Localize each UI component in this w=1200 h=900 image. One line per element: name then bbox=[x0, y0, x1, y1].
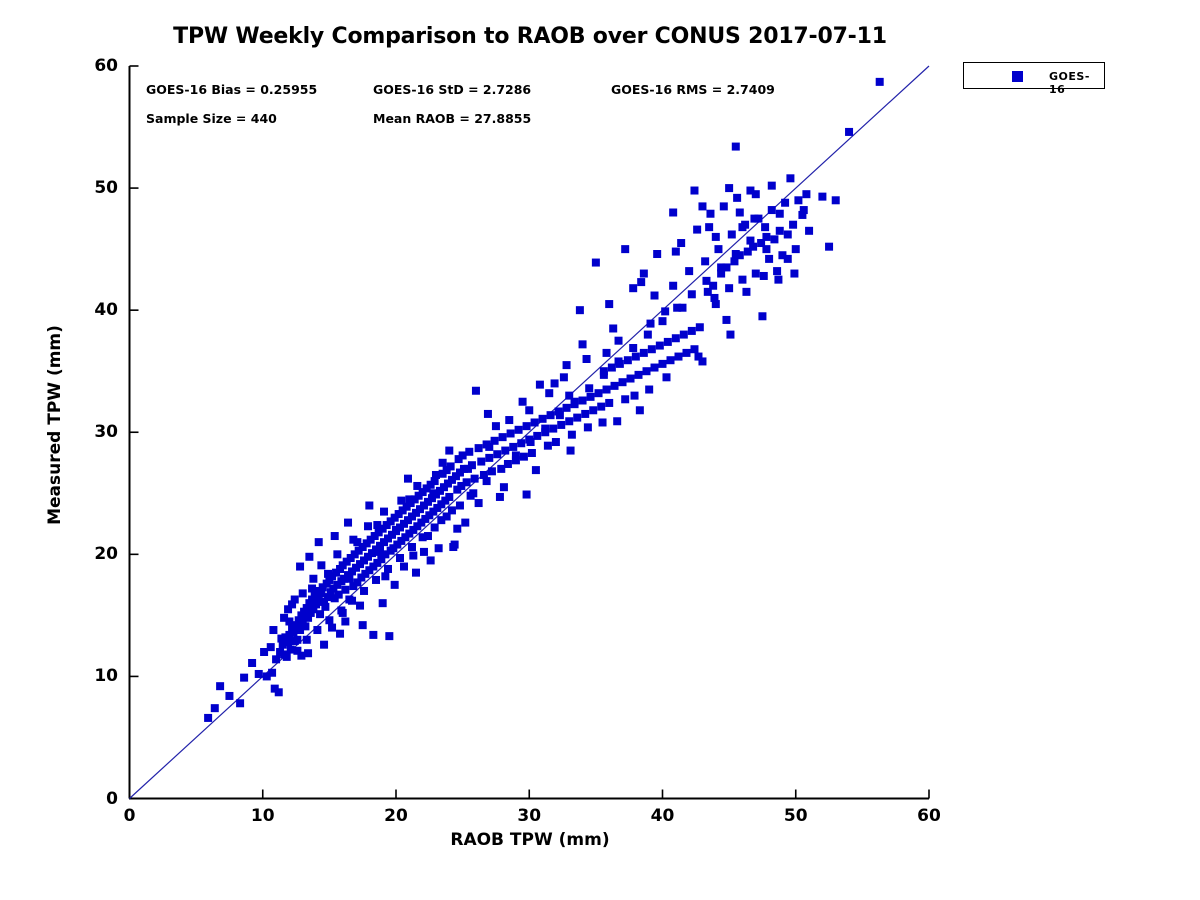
x-tick-label: 60 bbox=[899, 806, 959, 826]
data-point bbox=[304, 649, 312, 657]
data-point bbox=[587, 393, 595, 401]
y-tick-label: 0 bbox=[68, 789, 118, 809]
data-point bbox=[225, 692, 233, 700]
data-point bbox=[832, 196, 840, 204]
data-point bbox=[579, 397, 587, 405]
data-point bbox=[774, 276, 782, 284]
data-point bbox=[712, 233, 720, 241]
data-point bbox=[308, 585, 316, 593]
data-point bbox=[536, 381, 544, 389]
data-point bbox=[484, 410, 492, 418]
data-point bbox=[519, 398, 527, 406]
data-point bbox=[512, 451, 520, 459]
data-point bbox=[765, 255, 773, 263]
data-point bbox=[682, 349, 690, 357]
data-point bbox=[773, 267, 781, 275]
data-point bbox=[336, 630, 344, 638]
data-point bbox=[303, 636, 311, 644]
data-point bbox=[685, 267, 693, 275]
data-point bbox=[706, 210, 714, 218]
data-point bbox=[845, 128, 853, 136]
data-point bbox=[738, 276, 746, 284]
data-point bbox=[643, 367, 651, 375]
data-point bbox=[520, 453, 528, 461]
scatter-plot-canvas bbox=[0, 0, 1200, 900]
data-point bbox=[632, 353, 640, 361]
data-point bbox=[285, 617, 293, 625]
y-tick-label: 40 bbox=[68, 300, 118, 320]
data-point bbox=[584, 423, 592, 431]
data-point bbox=[690, 187, 698, 195]
data-point bbox=[733, 194, 741, 202]
data-point bbox=[316, 610, 324, 618]
data-point bbox=[211, 704, 219, 712]
data-point bbox=[585, 384, 593, 392]
data-point bbox=[453, 525, 461, 533]
data-point bbox=[576, 306, 584, 314]
data-point bbox=[496, 493, 504, 501]
data-point bbox=[750, 215, 758, 223]
data-point bbox=[216, 682, 224, 690]
data-point bbox=[732, 250, 740, 258]
data-point bbox=[532, 466, 540, 474]
data-point bbox=[629, 284, 637, 292]
data-point bbox=[742, 288, 750, 296]
data-point bbox=[268, 669, 276, 677]
data-point bbox=[464, 465, 472, 473]
data-point bbox=[320, 641, 328, 649]
data-point bbox=[776, 227, 784, 235]
data-point bbox=[659, 317, 667, 325]
data-point bbox=[615, 337, 623, 345]
data-point bbox=[405, 495, 413, 503]
data-point bbox=[392, 526, 400, 534]
data-point bbox=[305, 553, 313, 561]
data-point bbox=[728, 230, 736, 238]
data-point bbox=[680, 331, 688, 339]
data-point bbox=[492, 422, 500, 430]
x-tick-label: 0 bbox=[100, 806, 160, 826]
data-point bbox=[396, 554, 404, 562]
data-point bbox=[381, 572, 389, 580]
data-point bbox=[293, 647, 301, 655]
data-point bbox=[432, 471, 440, 479]
data-point bbox=[762, 245, 770, 253]
data-point bbox=[573, 414, 581, 422]
data-point bbox=[337, 606, 345, 614]
data-point bbox=[409, 552, 417, 560]
data-point bbox=[296, 563, 304, 571]
data-point bbox=[272, 655, 280, 663]
data-point bbox=[341, 586, 349, 594]
data-point bbox=[525, 406, 533, 414]
data-point bbox=[597, 403, 605, 411]
data-point bbox=[644, 331, 652, 339]
data-point bbox=[391, 581, 399, 589]
data-point bbox=[507, 429, 515, 437]
data-point bbox=[551, 379, 559, 387]
data-point bbox=[321, 603, 329, 611]
data-point bbox=[359, 621, 367, 629]
data-point bbox=[669, 282, 677, 290]
data-point bbox=[673, 304, 681, 312]
data-point bbox=[802, 190, 810, 198]
data-point bbox=[312, 593, 320, 601]
data-point bbox=[688, 290, 696, 298]
data-point bbox=[317, 561, 325, 569]
data-point bbox=[497, 465, 505, 473]
data-point bbox=[523, 422, 531, 430]
data-point bbox=[786, 174, 794, 182]
data-point bbox=[509, 443, 517, 451]
data-point bbox=[397, 497, 405, 505]
data-point bbox=[648, 345, 656, 353]
data-point bbox=[517, 439, 525, 447]
data-point bbox=[541, 425, 549, 433]
data-point bbox=[469, 489, 477, 497]
data-point bbox=[635, 371, 643, 379]
data-point bbox=[360, 587, 368, 595]
data-point bbox=[528, 449, 536, 457]
data-point bbox=[331, 532, 339, 540]
data-point bbox=[758, 312, 766, 320]
y-tick-label: 20 bbox=[68, 544, 118, 564]
data-point bbox=[651, 364, 659, 372]
data-point bbox=[581, 410, 589, 418]
legend-label-goes16: GOES-16 bbox=[1049, 70, 1104, 96]
data-point bbox=[324, 570, 332, 578]
data-point bbox=[385, 632, 393, 640]
x-axis-title: RAOB TPW (mm) bbox=[130, 830, 930, 850]
data-point bbox=[770, 235, 778, 243]
data-point bbox=[443, 512, 451, 520]
data-point bbox=[599, 418, 607, 426]
data-point bbox=[475, 499, 483, 507]
data-point bbox=[659, 360, 667, 368]
data-point bbox=[746, 237, 754, 245]
data-point bbox=[619, 378, 627, 386]
data-point bbox=[356, 602, 364, 610]
data-point bbox=[825, 243, 833, 251]
data-point bbox=[379, 599, 387, 607]
data-point bbox=[544, 442, 552, 450]
data-point bbox=[380, 508, 388, 516]
data-point bbox=[688, 327, 696, 335]
data-point bbox=[805, 227, 813, 235]
data-point bbox=[565, 392, 573, 400]
data-point bbox=[611, 382, 619, 390]
data-point bbox=[429, 489, 437, 497]
data-point bbox=[465, 448, 473, 456]
data-point bbox=[325, 616, 333, 624]
data-point bbox=[690, 345, 698, 353]
data-point bbox=[568, 431, 576, 439]
data-point bbox=[784, 255, 792, 263]
data-point bbox=[345, 575, 353, 583]
data-point bbox=[560, 373, 568, 381]
data-point bbox=[549, 425, 557, 433]
data-point bbox=[531, 418, 539, 426]
data-point bbox=[621, 395, 629, 403]
one-to-one-reference-line bbox=[130, 66, 930, 799]
x-tick-label: 20 bbox=[366, 806, 426, 826]
data-point bbox=[762, 233, 770, 241]
data-point bbox=[493, 450, 501, 458]
data-point bbox=[579, 340, 587, 348]
data-point bbox=[761, 223, 769, 231]
x-tick-label: 30 bbox=[499, 806, 559, 826]
data-point bbox=[702, 277, 710, 285]
data-point bbox=[365, 502, 373, 510]
chart-figure: TPW Weekly Comparison to RAOB over CONUS… bbox=[0, 0, 1200, 900]
data-point bbox=[651, 292, 659, 300]
data-point bbox=[640, 270, 648, 278]
data-point bbox=[595, 389, 603, 397]
data-point bbox=[781, 199, 789, 207]
data-point bbox=[384, 565, 392, 573]
data-point bbox=[722, 316, 730, 324]
data-point bbox=[603, 349, 611, 357]
data-point bbox=[475, 444, 483, 452]
data-point bbox=[373, 521, 381, 529]
data-point bbox=[501, 447, 509, 455]
data-point bbox=[413, 482, 421, 490]
data-point bbox=[309, 575, 317, 583]
data-point bbox=[605, 399, 613, 407]
y-tick-label: 50 bbox=[68, 178, 118, 198]
data-point bbox=[545, 389, 553, 397]
data-point bbox=[240, 674, 248, 682]
data-point bbox=[669, 209, 677, 217]
data-point bbox=[269, 626, 277, 634]
data-point bbox=[605, 300, 613, 308]
legend: GOES-16 bbox=[963, 62, 1105, 89]
data-point bbox=[333, 550, 341, 558]
data-point bbox=[613, 417, 621, 425]
data-point bbox=[412, 569, 420, 577]
data-point bbox=[736, 209, 744, 217]
y-tick-label: 10 bbox=[68, 666, 118, 686]
data-point bbox=[592, 259, 600, 267]
data-point bbox=[500, 483, 508, 491]
x-tick-label: 50 bbox=[766, 806, 826, 826]
data-point bbox=[800, 206, 808, 214]
data-point bbox=[387, 547, 395, 555]
data-point bbox=[714, 245, 722, 253]
data-point bbox=[284, 605, 292, 613]
data-point bbox=[603, 386, 611, 394]
data-point bbox=[499, 433, 507, 441]
data-point bbox=[477, 458, 485, 466]
data-point bbox=[439, 459, 447, 467]
y-axis-title: Measured TPW (mm) bbox=[45, 315, 65, 535]
data-point bbox=[768, 182, 776, 190]
data-point bbox=[696, 323, 704, 331]
data-point bbox=[431, 523, 439, 531]
data-point bbox=[408, 543, 416, 551]
data-point bbox=[451, 541, 459, 549]
data-point bbox=[556, 411, 564, 419]
data-point bbox=[647, 320, 655, 328]
data-point bbox=[624, 356, 632, 364]
data-point bbox=[698, 202, 706, 210]
data-point bbox=[710, 294, 718, 302]
data-point bbox=[621, 245, 629, 253]
data-point bbox=[876, 78, 884, 86]
data-point bbox=[341, 617, 349, 625]
data-point bbox=[313, 626, 321, 634]
data-point bbox=[315, 538, 323, 546]
data-point bbox=[372, 576, 380, 584]
data-point bbox=[275, 688, 283, 696]
data-point bbox=[664, 338, 672, 346]
data-point bbox=[404, 475, 412, 483]
data-point bbox=[420, 548, 428, 556]
data-point bbox=[427, 556, 435, 564]
data-point bbox=[283, 653, 291, 661]
data-point bbox=[301, 622, 309, 630]
data-point bbox=[485, 454, 493, 462]
data-point bbox=[725, 184, 733, 192]
x-tick-label: 10 bbox=[233, 806, 293, 826]
data-point bbox=[485, 443, 493, 451]
data-point bbox=[631, 392, 639, 400]
data-point bbox=[627, 375, 635, 383]
data-point bbox=[567, 447, 575, 455]
data-point bbox=[204, 714, 212, 722]
data-point bbox=[662, 373, 670, 381]
data-point bbox=[456, 502, 464, 510]
data-point bbox=[726, 331, 734, 339]
data-point bbox=[447, 462, 455, 470]
data-point bbox=[666, 356, 674, 364]
data-point bbox=[248, 659, 256, 667]
data-point bbox=[636, 406, 644, 414]
data-point bbox=[445, 447, 453, 455]
data-point bbox=[344, 519, 352, 527]
data-point bbox=[701, 257, 709, 265]
data-point bbox=[515, 426, 523, 434]
data-point bbox=[818, 193, 826, 201]
data-point bbox=[661, 307, 669, 315]
data-point bbox=[789, 221, 797, 229]
data-point bbox=[629, 344, 637, 352]
data-point bbox=[656, 342, 664, 350]
data-point bbox=[760, 272, 768, 280]
data-point bbox=[527, 438, 535, 446]
data-point bbox=[717, 263, 725, 271]
data-point bbox=[732, 143, 740, 151]
x-tick-label: 40 bbox=[633, 806, 693, 826]
data-point bbox=[563, 361, 571, 369]
data-point bbox=[552, 438, 560, 446]
data-point bbox=[674, 353, 682, 361]
data-point bbox=[557, 421, 565, 429]
data-point bbox=[539, 415, 547, 423]
data-point bbox=[461, 519, 469, 527]
data-point bbox=[349, 536, 357, 544]
legend-marker-goes16 bbox=[1012, 71, 1023, 82]
data-point bbox=[563, 404, 571, 412]
data-point bbox=[720, 202, 728, 210]
data-point bbox=[776, 210, 784, 218]
data-point bbox=[677, 239, 685, 247]
data-point-group bbox=[204, 78, 884, 722]
data-point bbox=[738, 223, 746, 231]
data-point bbox=[299, 589, 307, 597]
data-point bbox=[653, 250, 661, 258]
data-point bbox=[784, 230, 792, 238]
data-point bbox=[725, 284, 733, 292]
y-tick-label: 60 bbox=[68, 56, 118, 76]
data-point bbox=[255, 670, 263, 678]
data-point bbox=[505, 416, 513, 424]
data-point bbox=[615, 357, 623, 365]
data-point bbox=[705, 223, 713, 231]
data-point bbox=[260, 648, 268, 656]
data-point bbox=[790, 270, 798, 278]
data-point bbox=[328, 624, 336, 632]
data-point bbox=[523, 491, 531, 499]
data-point bbox=[400, 563, 408, 571]
data-point bbox=[293, 636, 301, 644]
data-point bbox=[547, 411, 555, 419]
data-point bbox=[645, 386, 653, 394]
data-point bbox=[236, 699, 244, 707]
data-point bbox=[376, 548, 384, 556]
data-point bbox=[752, 270, 760, 278]
data-point bbox=[369, 631, 377, 639]
data-point bbox=[693, 226, 701, 234]
data-point bbox=[589, 406, 597, 414]
data-point bbox=[600, 371, 608, 379]
data-point bbox=[472, 387, 480, 395]
data-point bbox=[583, 355, 591, 363]
data-point bbox=[445, 493, 453, 501]
data-point bbox=[364, 522, 372, 530]
data-point bbox=[768, 206, 776, 214]
data-point bbox=[483, 477, 491, 485]
data-point bbox=[752, 190, 760, 198]
data-point bbox=[792, 245, 800, 253]
data-point bbox=[640, 349, 648, 357]
data-point bbox=[694, 353, 702, 361]
data-point bbox=[565, 417, 573, 425]
data-point bbox=[471, 475, 479, 483]
data-point bbox=[672, 334, 680, 342]
data-point bbox=[419, 533, 427, 541]
data-point bbox=[637, 278, 645, 286]
data-point bbox=[609, 324, 617, 332]
data-point bbox=[488, 467, 496, 475]
y-tick-label: 30 bbox=[68, 422, 118, 442]
data-point bbox=[672, 248, 680, 256]
data-point bbox=[348, 597, 356, 605]
data-point bbox=[794, 196, 802, 204]
data-point bbox=[463, 478, 471, 486]
data-point bbox=[435, 544, 443, 552]
